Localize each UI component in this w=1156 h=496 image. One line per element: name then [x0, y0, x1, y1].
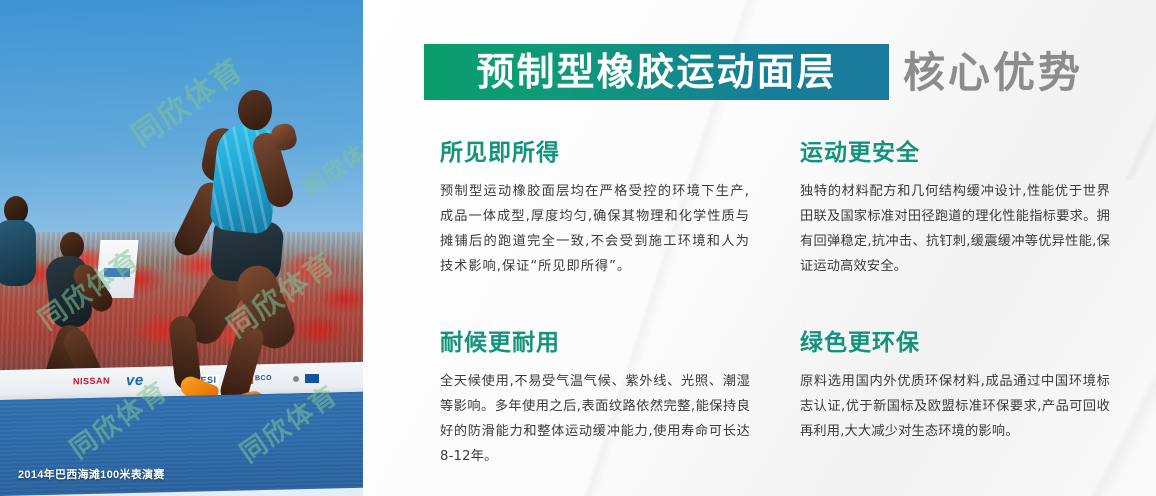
feature-title: 所见即所得 [440, 142, 750, 165]
feature-body: 预制型运动橡胶面层均在严格受控的环境下生产,成品一体成型,厚度均匀,确保其物理和… [440, 179, 750, 279]
feature-body: 原料选用国内外优质环保材料,成品通过中国环境标志认证,优于新国标及欧盟标准环保要… [800, 369, 1110, 444]
sponsor-logo-nissan: NISSAN [73, 376, 110, 387]
feature-card-1: 所见即所得 预制型运动橡胶面层均在严格受控的环境下生产,成品一体成型,厚度均匀,… [440, 142, 750, 279]
hero-photo: NISSAN ve SESI BCO 同欣体育 同欣体育 同欣体育 同欣体育 同… [0, 0, 363, 496]
poster-root: NISSAN ve SESI BCO 同欣体育 同欣体育 同欣体育 同欣体育 同… [0, 0, 1156, 496]
title-banner: 预制型橡胶运动面层 [424, 44, 889, 100]
photo-caption: 2014年巴西海滩100米表演赛 [18, 466, 165, 482]
feature-title: 耐候更耐用 [440, 332, 750, 355]
feature-body: 独特的材料配方和几何结构缓冲设计,性能优于世界田联及国家标准对田径跑道的理化性能… [800, 179, 1110, 279]
feature-grid: 所见即所得 预制型运动橡胶面层均在严格受控的环境下生产,成品一体成型,厚度均匀,… [440, 142, 1140, 488]
banner-subtitle: 核心优势 [903, 46, 1083, 100]
feature-card-3: 耐候更耐用 全天候使用,不易受气温气候、紫外线、光照、潮湿等影响。多年使用之后,… [440, 332, 750, 469]
feature-title: 绿色更环保 [800, 332, 1110, 355]
feature-card-4: 绿色更环保 原料选用国内外优质环保材料,成品通过中国环境标志认证,优于新国标及欧… [800, 332, 1110, 444]
runner-primary [176, 88, 316, 418]
feature-body: 全天候使用,不易受气温气候、紫外线、光照、潮湿等影响。多年使用之后,表面纹路依然… [440, 369, 750, 469]
feature-title: 运动更安全 [800, 142, 1110, 165]
feature-card-2: 运动更安全 独特的材料配方和几何结构缓冲设计,性能优于世界田联及国家标准对田径跑… [800, 142, 1110, 279]
banner-title: 预制型橡胶运动面层 [476, 53, 836, 91]
